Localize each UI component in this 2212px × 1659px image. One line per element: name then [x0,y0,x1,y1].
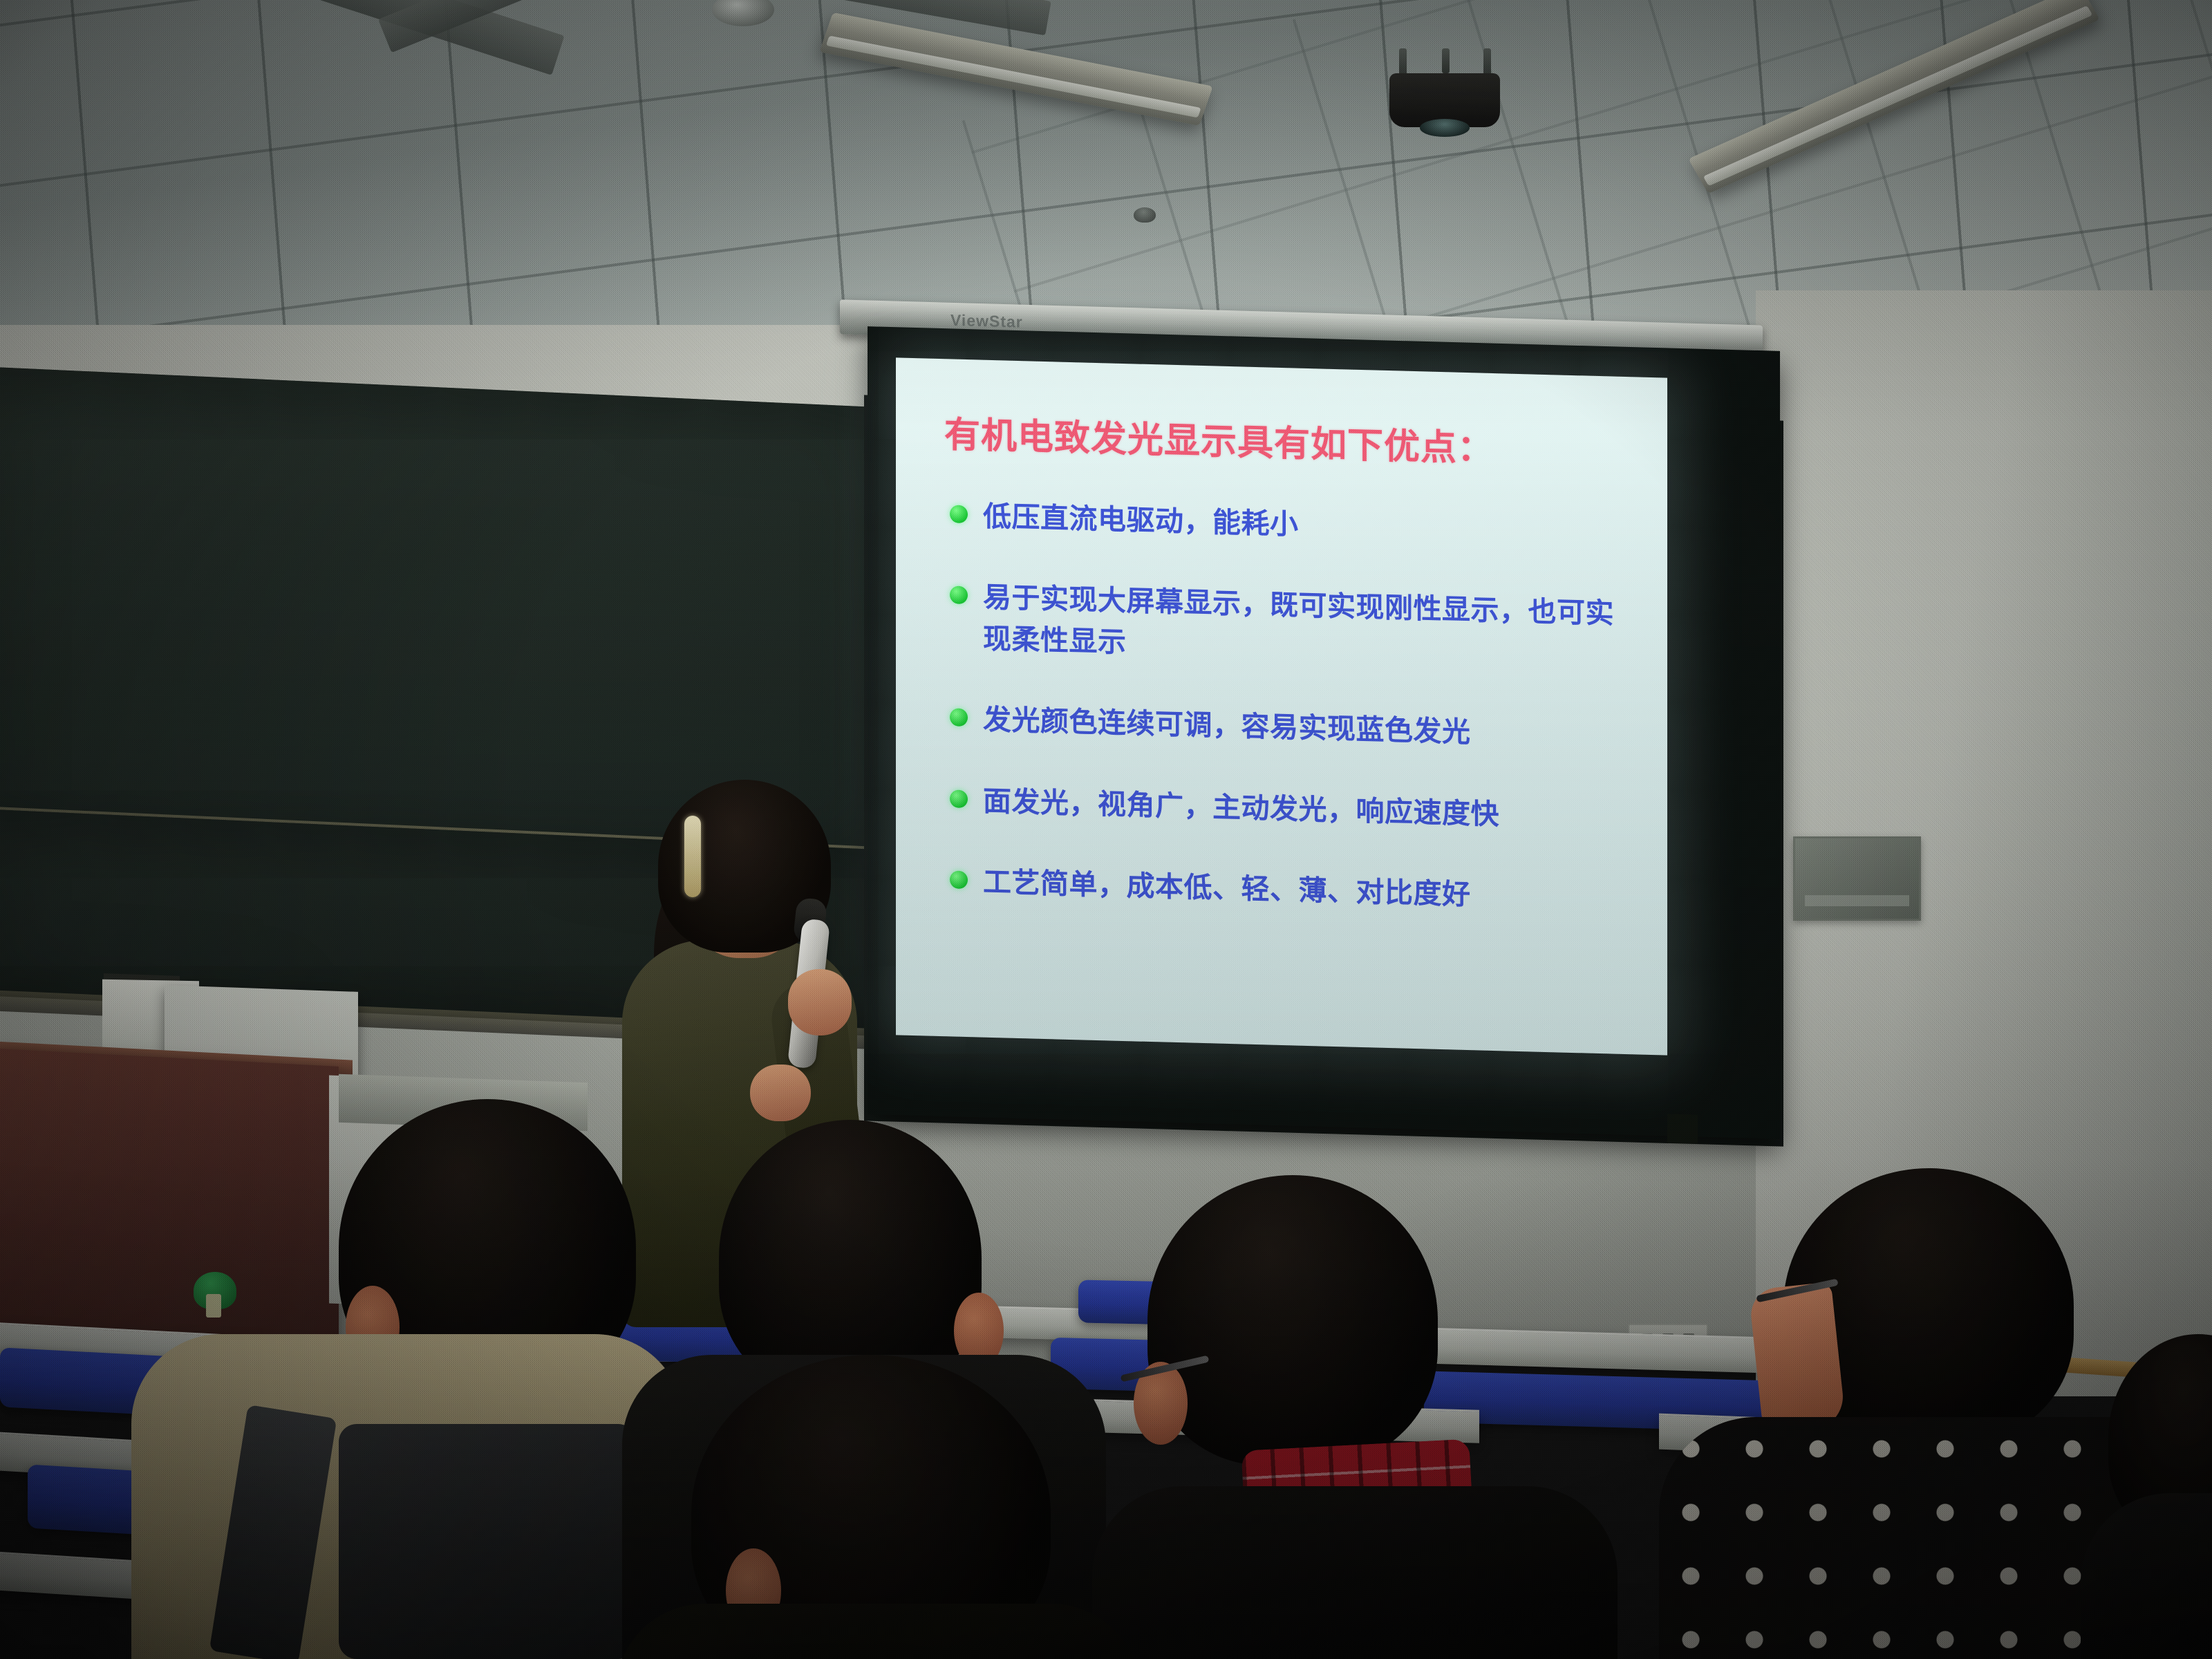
lectern [0,1049,339,1364]
wall-control-panel[interactable] [1793,836,1921,921]
bullet-dot-icon [950,505,968,523]
audience-hair [1147,1175,1438,1465]
presenter-hand [788,969,852,1035]
audience-body [615,1604,1141,1659]
audience-raised-hand [1748,1282,1846,1434]
presenter-hand-lower [750,1065,811,1121]
bullet-dot-icon [950,586,968,605]
backpack [339,1424,636,1659]
green-bottle-cap [194,1272,236,1309]
panel-slot [1805,895,1909,906]
bullet-dot-icon [950,789,968,808]
slide-bullet-text: 面发光，视角广，主动发光，响应速度快 [983,780,1499,835]
slide-bullet-item: 面发光，视角广，主动发光，响应速度快 [950,780,1640,839]
ceiling-sensor [1134,207,1156,223]
slide-bullet-text: 发光颜色连续可调，容易实现蓝色发光 [983,700,1471,753]
projector-lens [1420,119,1470,137]
hair-clip [684,816,701,897]
projector-mount-arm [1442,48,1450,73]
slide-bullet-item: 工艺简单，成本低、轻、薄、对比度好 [950,861,1640,921]
bullet-dot-icon [950,709,968,727]
slide-bullet-text: 易于实现大屏幕显示，既可实现刚性显示，也可实现柔性显示 [983,577,1626,676]
bullet-dot-icon [950,871,968,890]
slide-bullet-list: 低压直流电驱动，能耗小 易于实现大屏幕显示，既可实现刚性显示，也可实现柔性显示 … [932,495,1640,920]
ceiling-projector [1389,48,1507,145]
lecture-hall-photo: ViewStar 有机电致发光显示具有如下优点： 低压直流电驱动，能耗小 易于实… [0,0,2212,1659]
cap-stem [206,1294,221,1318]
slide-bullet-item: 发光颜色连续可调，容易实现蓝色发光 [950,699,1640,758]
slide-bullet-text: 低压直流电驱动，能耗小 [983,496,1299,545]
slide-bullet-text: 工艺简单，成本低、轻、薄、对比度好 [983,862,1471,916]
slide-title: 有机电致发光显示具有如下优点： [944,413,1640,476]
presentation-slide: 有机电致发光显示具有如下优点： 低压直流电驱动，能耗小 易于实现大屏幕显示，既可… [896,357,1667,1055]
slide-bullet-item: 低压直流电驱动，能耗小 [950,495,1640,554]
audience-body [1092,1486,1618,1659]
slide-bullet-item: 易于实现大屏幕显示，既可实现刚性显示，也可实现柔性显示 [950,577,1640,677]
screen-bottom-tab [1667,1114,1698,1143]
